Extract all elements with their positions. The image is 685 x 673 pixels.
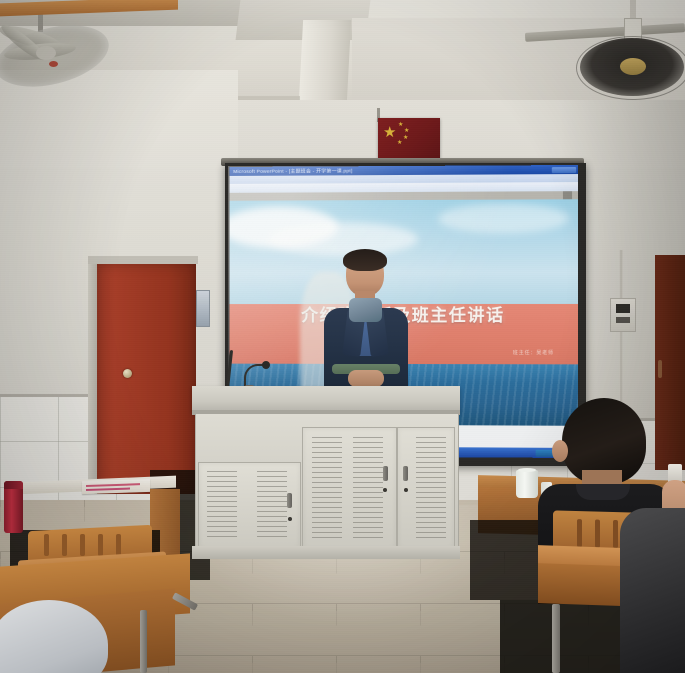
desk-metal-leg (552, 604, 560, 673)
podium-handle-icon[interactable] (403, 466, 408, 481)
wall-switch-box[interactable] (610, 298, 636, 332)
door-jamb (88, 258, 97, 494)
podium-door-center[interactable] (302, 427, 397, 550)
speaker-hands (348, 370, 384, 387)
door-lintel (88, 256, 198, 264)
wall-plaque (196, 290, 210, 327)
speaker-scarf (349, 298, 382, 322)
fan-indicator (49, 61, 58, 67)
podium-handle-icon[interactable] (287, 493, 292, 508)
under-desk-shadow-right (470, 520, 540, 600)
chinese-national-flag-icon: ★★ ★★ ★ (378, 118, 440, 159)
chair-slat (98, 534, 103, 556)
lectern-cabinet (192, 386, 460, 563)
chair-slat (577, 519, 582, 547)
window-controls[interactable] (552, 167, 576, 173)
desk-metal-leg (140, 610, 147, 673)
vent-slots (257, 471, 287, 539)
paper-stack (82, 479, 150, 494)
podium-door-right[interactable] (397, 427, 455, 550)
podium-door-left[interactable] (198, 462, 301, 550)
podium-top (192, 386, 460, 413)
vent-slots (207, 471, 237, 539)
chair-slat (116, 534, 121, 556)
under-desk-shadow-right-front (500, 600, 620, 673)
vent-slots (312, 437, 342, 540)
white-cup (516, 470, 538, 498)
classroom-photo: ★★ ★★ ★ Microsoft PowerPoint - [主题班会 - 开… (0, 0, 685, 673)
microphone-icon[interactable] (262, 361, 270, 369)
podium-handle-icon[interactable] (383, 466, 388, 481)
classroom-door-left[interactable] (97, 264, 196, 494)
powerpoint-title-text: Microsoft PowerPoint - [主题班会 - 开学第一课.ppt… (233, 168, 352, 175)
thermos-cap (4, 481, 23, 489)
powerpoint-scroll-tab[interactable] (563, 191, 572, 199)
doorknob-icon[interactable] (123, 369, 132, 378)
fan-hub (620, 58, 646, 75)
podium-lock-icon[interactable] (383, 488, 387, 492)
chair-slat (44, 534, 49, 556)
chair-slat (613, 520, 618, 548)
thermos-bottle (4, 481, 23, 533)
student-jacket (620, 508, 685, 673)
ceiling-fan-right-icon (572, 0, 685, 100)
student-foreground-right (620, 468, 685, 673)
chair-slat (80, 534, 85, 556)
podium-lock-icon[interactable] (288, 517, 292, 521)
door-handle-icon[interactable] (658, 360, 662, 378)
speaker-teacher (318, 252, 414, 397)
vent-slots (353, 437, 383, 540)
chair-slat (62, 534, 67, 556)
podium-lock-icon[interactable] (404, 488, 408, 492)
ceiling-fan-left-icon (0, 6, 114, 91)
slide-subtitle-text: 班主任：吴老师 (513, 349, 554, 356)
chair-slat (595, 520, 600, 548)
speaker-hair (343, 249, 387, 271)
podium-base (192, 546, 460, 559)
fan-hub (36, 46, 56, 60)
vent-slots (416, 437, 446, 540)
student-ear (552, 440, 568, 462)
